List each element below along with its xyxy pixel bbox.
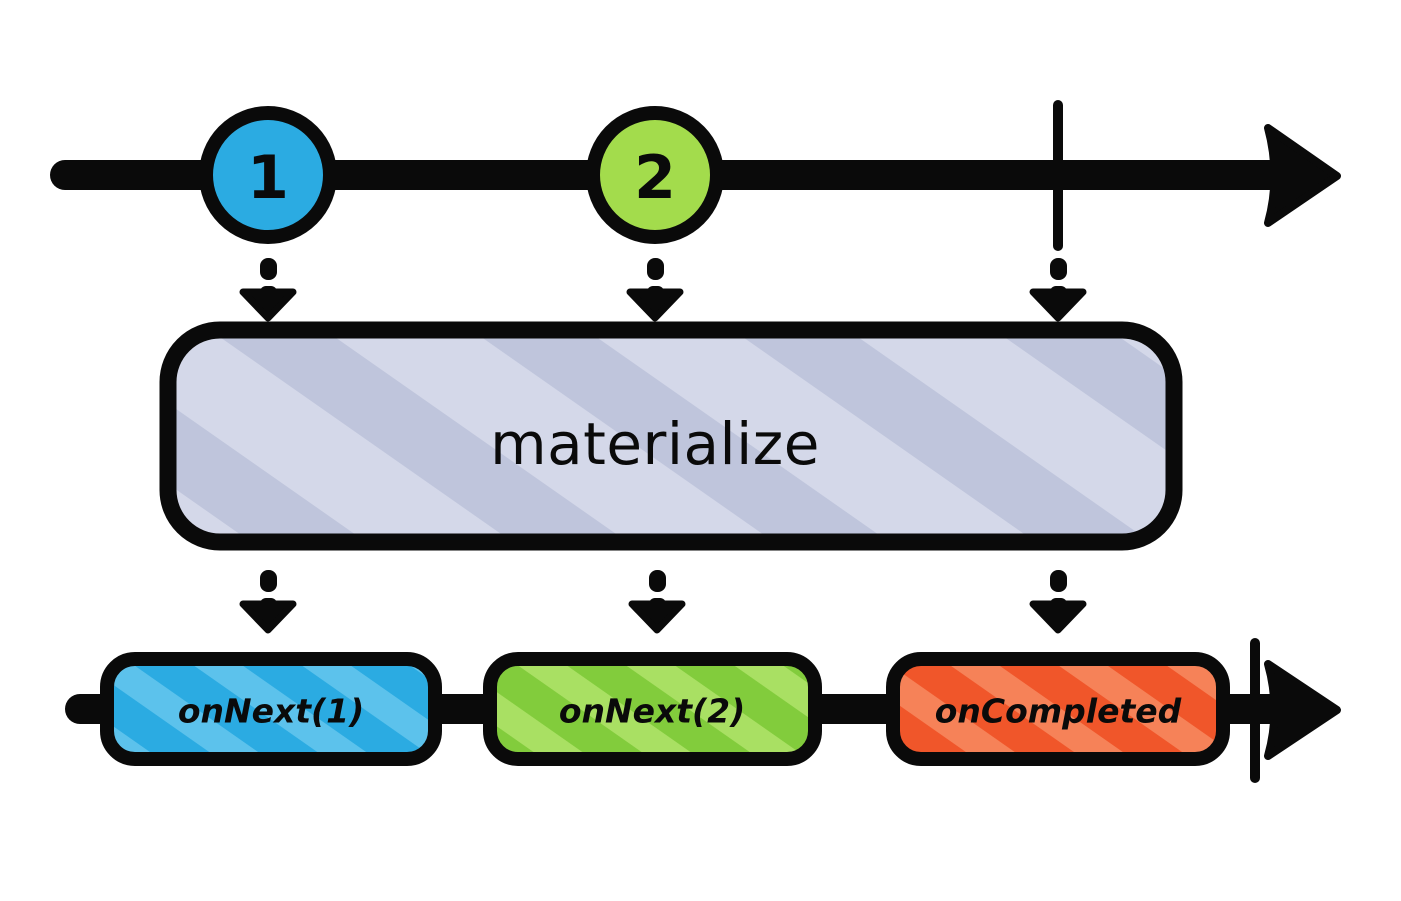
input-timeline-arrowhead xyxy=(1268,128,1337,223)
output-notification-2-label: onNext(2) xyxy=(559,692,745,731)
output-notification-3-label: onCompleted xyxy=(935,692,1182,731)
arrows-into-operator xyxy=(243,258,1083,318)
output-timeline-arrowhead xyxy=(1268,664,1337,756)
arrow-to-operator-complete xyxy=(1033,258,1083,318)
operator-label: materialize xyxy=(490,410,820,478)
marble-diagram-canvas: 1 2 xyxy=(0,0,1401,901)
materialize-operator-box[interactable]: materialize xyxy=(168,330,1174,542)
output-notification-1[interactable]: onNext(1) xyxy=(107,659,435,759)
output-notification-2[interactable]: onNext(2) xyxy=(490,659,815,759)
output-notification-1-label: onNext(1) xyxy=(178,692,364,731)
marble-diagram-root: 1 2 xyxy=(0,0,1401,901)
arrow-to-operator-2 xyxy=(630,258,680,318)
input-marble-2-label: 2 xyxy=(634,143,676,213)
arrow-from-operator-1 xyxy=(243,570,293,630)
input-timeline: 1 2 xyxy=(65,105,1337,246)
input-marble-2[interactable]: 2 xyxy=(593,113,717,237)
arrow-from-operator-3 xyxy=(1033,570,1083,630)
arrows-out-of-operator xyxy=(243,570,1083,630)
input-marble-1[interactable]: 1 xyxy=(206,113,330,237)
arrow-to-operator-1 xyxy=(243,258,293,318)
output-timeline: onNext(1) onNext(2) onCompleted xyxy=(80,643,1337,778)
input-marble-1-label: 1 xyxy=(247,143,289,213)
arrow-from-operator-2 xyxy=(632,570,682,630)
output-notification-3[interactable]: onCompleted xyxy=(893,659,1223,759)
